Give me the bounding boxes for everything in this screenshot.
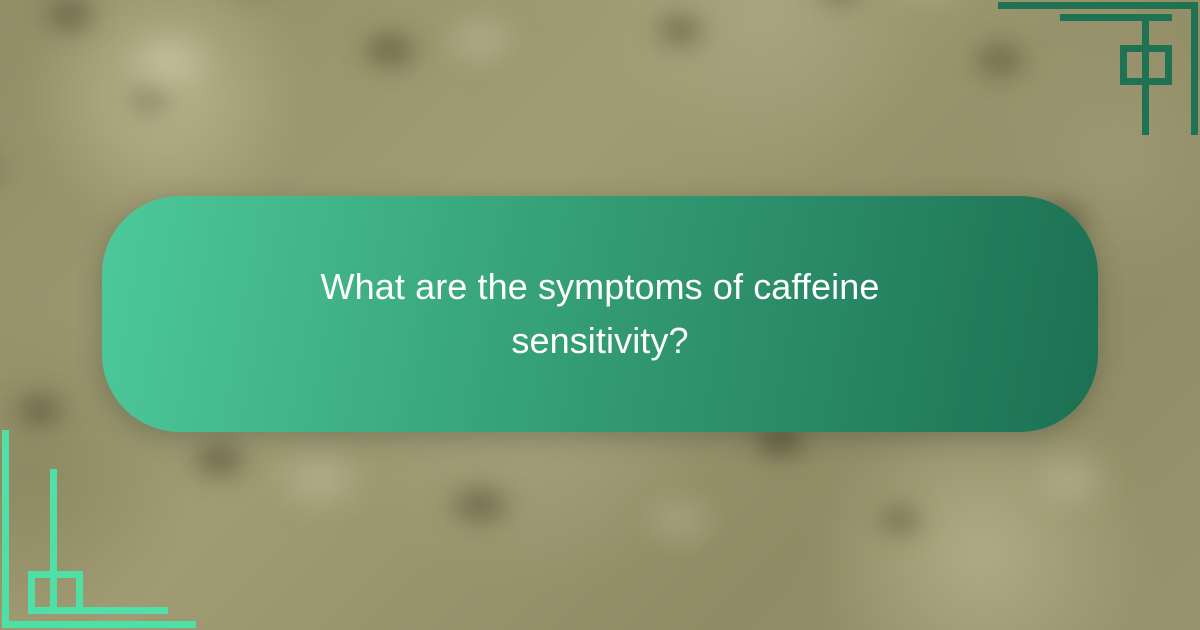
ornament-stem-vertical bbox=[50, 469, 57, 614]
ornament-line-outer-horizontal bbox=[2, 621, 196, 628]
question-card: What are the symptoms of caffeine sensit… bbox=[102, 196, 1098, 432]
ornament-square-right-edge bbox=[1165, 45, 1172, 85]
ornament-square-left-edge bbox=[28, 571, 35, 614]
ornament-stem-vertical bbox=[1142, 14, 1149, 135]
art-deco-corner-bottom-left bbox=[0, 430, 210, 630]
art-deco-corner-top-right bbox=[990, 0, 1200, 135]
ornament-square-right-edge bbox=[76, 571, 83, 614]
ornament-line-outer-vertical bbox=[2, 430, 9, 628]
question-card-graphic: What are the symptoms of caffeine sensit… bbox=[0, 0, 1200, 630]
ornament-line-outer-vertical bbox=[1191, 2, 1198, 135]
question-text: What are the symptoms of caffeine sensit… bbox=[280, 260, 920, 368]
ornament-line-outer-horizontal bbox=[998, 2, 1192, 9]
ornament-line-inner-horizontal bbox=[1060, 14, 1172, 21]
